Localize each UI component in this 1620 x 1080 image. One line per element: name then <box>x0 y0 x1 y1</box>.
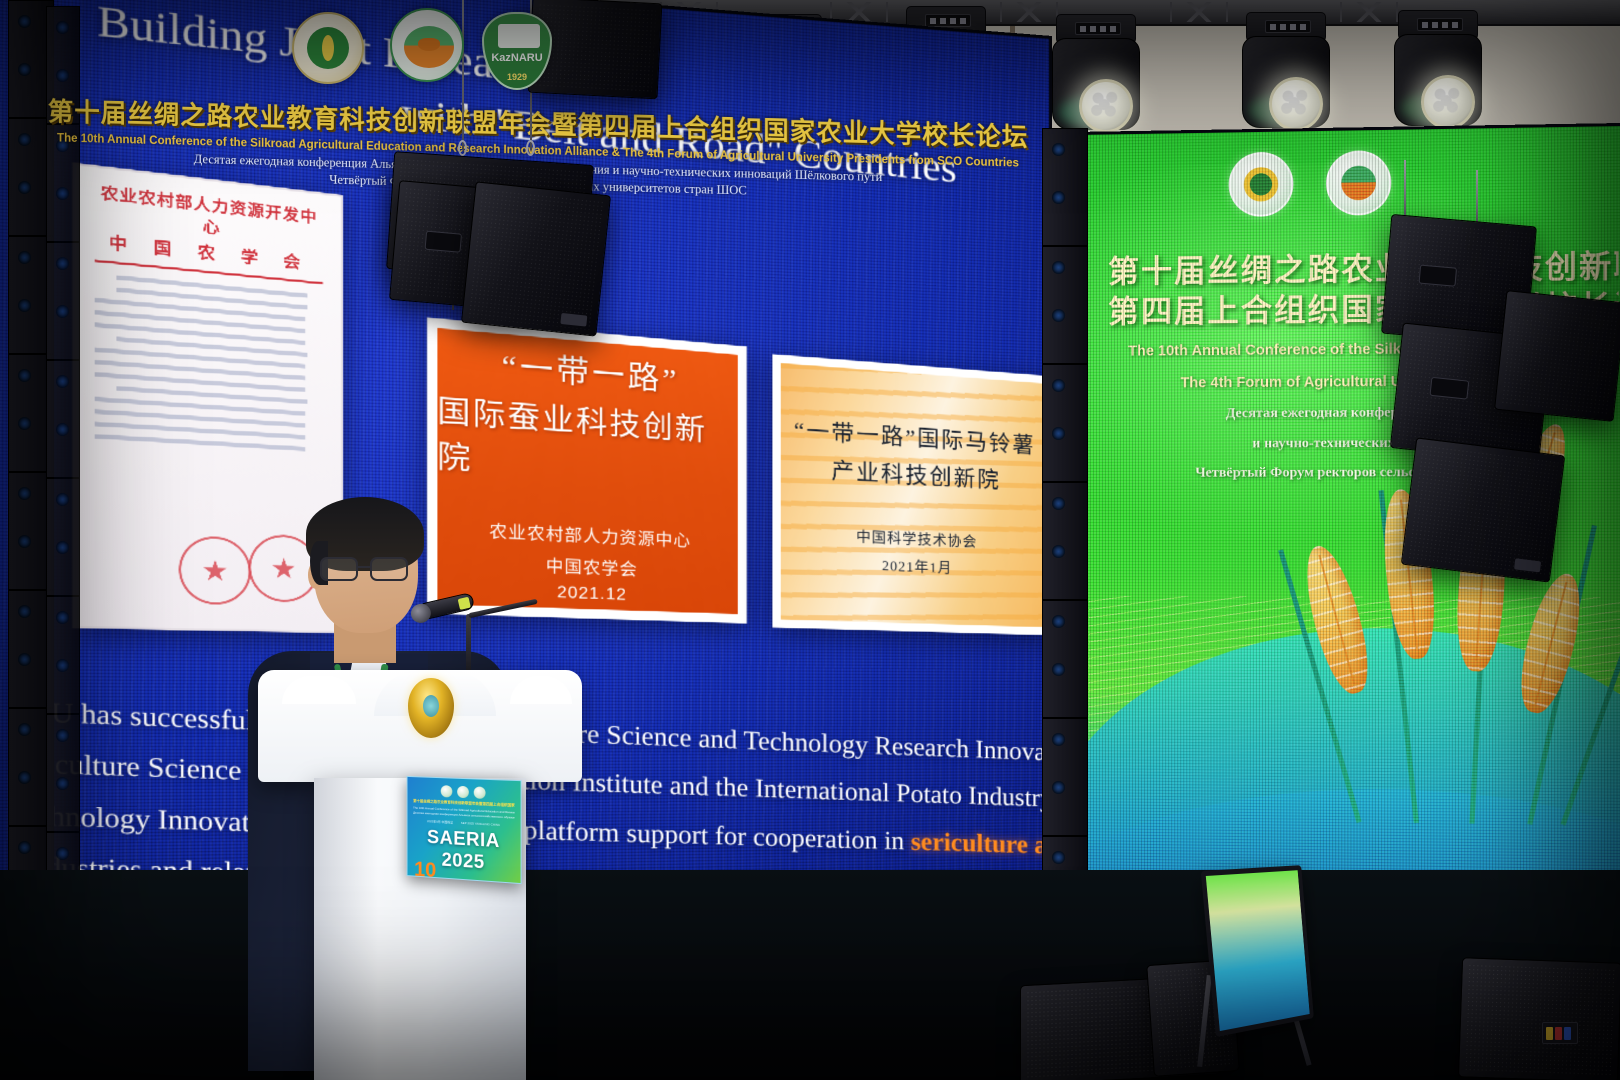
potato-institute-certificate: “一带一路”国际马铃薯 产业科技创新院 中国科学技术协会 2021年1月 <box>772 354 1052 635</box>
line-array-speaker <box>1494 290 1620 422</box>
saeria-camel-logo-icon <box>1326 150 1391 216</box>
conference-stage-scene: Building Joint Research with "Belt and R… <box>0 0 1620 1080</box>
rigging-shackle <box>458 140 467 156</box>
plaque-orange-date: 2021.12 <box>557 584 627 605</box>
northwest-af-university-logo-icon <box>292 12 364 84</box>
light-control-panel <box>1265 20 1311 33</box>
podium-shadow <box>314 778 378 1080</box>
plaque-orange-issuer2: 中国农学会 <box>546 551 638 580</box>
northwest-af-university-logo-icon <box>1229 152 1294 217</box>
line-array-speaker <box>461 181 611 336</box>
rigging-shackle <box>526 140 535 156</box>
plaque-orange-issuer1: 农业农村部人力资源中心 <box>489 517 691 552</box>
light-head <box>1242 36 1330 128</box>
moving-head-light <box>1392 10 1484 128</box>
podium-crown-left <box>282 676 356 704</box>
kaznaru-label: KazNARU <box>484 52 550 64</box>
truss-brace <box>1170 2 1228 22</box>
plaque-gold-date: 2021年1月 <box>882 555 953 578</box>
plaque-orange-title1: “一带一路” <box>502 339 680 400</box>
saeria-camel-logo-icon <box>390 8 464 82</box>
right-screen-logos <box>1229 150 1392 217</box>
kaznaru-year: 1929 <box>484 72 550 82</box>
podium-sign-logos <box>413 784 514 800</box>
stage-floor <box>0 870 1620 1080</box>
light-lens-icon <box>1421 75 1475 129</box>
podium-sign-meta-left: 2025年9月 中国杨凌 <box>427 819 453 824</box>
light-control-panel <box>925 14 971 27</box>
light-control-panel <box>1075 22 1121 35</box>
red-seal-left: ★ <box>179 535 251 605</box>
podium-sign-meta-right: SEP 2025 YANGLING CHINA <box>461 820 500 826</box>
line-array-speaker <box>1401 437 1565 582</box>
light-lens-icon <box>1269 77 1323 131</box>
kaznaru-logo-icon: KazNARU 1929 <box>482 12 552 90</box>
right-screen-chinese-line1: 第十届丝绸之路农业教育科技创新联盟年会暨 <box>1108 247 1619 293</box>
moving-head-light <box>1050 14 1142 132</box>
monitor-io-panel <box>1542 1022 1578 1044</box>
speaker-rigging-wire <box>462 0 464 150</box>
light-head <box>1052 38 1140 130</box>
slide-body-highlight: sericulture and potato <box>911 826 1052 862</box>
light-head <box>1394 34 1482 126</box>
presenter-glasses-icon <box>320 557 414 581</box>
truss-brace <box>1340 2 1398 22</box>
led-pillar-center <box>1042 128 1088 928</box>
light-lens-icon <box>1079 79 1133 133</box>
kazakhstan-emblem-icon <box>408 678 454 738</box>
moving-head-light <box>1240 12 1332 130</box>
stage-wedge-monitor <box>1458 957 1620 1080</box>
letter-body-text <box>95 273 323 452</box>
podium-event-sign: 第十届丝绸之路农业教育科技创新联盟年会暨第四届上合组织国家农业大学校长论坛 Th… <box>407 776 522 884</box>
plaque-orange-title2: 国际蚕业科技创新院 <box>437 386 737 495</box>
light-control-panel <box>1417 18 1463 31</box>
podium-top-surface <box>258 670 582 782</box>
podium-crown-right <box>510 676 572 704</box>
confidence-monitor <box>1201 865 1314 1037</box>
